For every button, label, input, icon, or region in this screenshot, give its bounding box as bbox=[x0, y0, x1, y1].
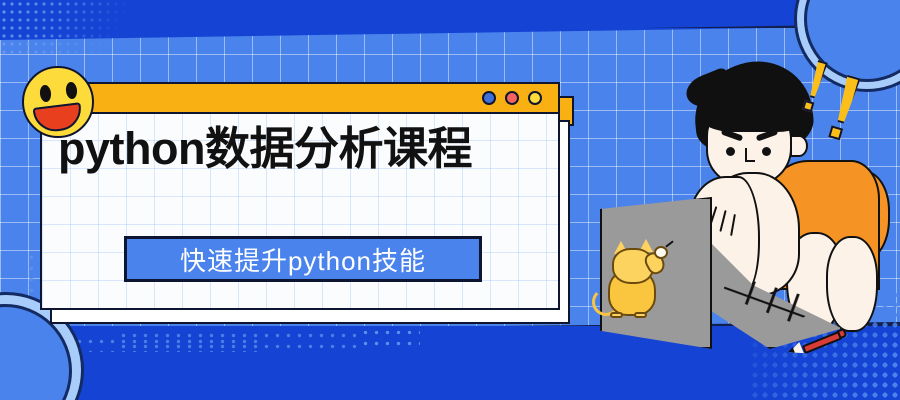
cat-foot-right bbox=[634, 312, 647, 318]
smiley-mouth bbox=[33, 102, 84, 134]
card-bottom-edge-tab bbox=[50, 310, 570, 324]
person-eye-left bbox=[726, 147, 735, 156]
card-title-bar bbox=[42, 84, 558, 114]
person-leg-right bbox=[826, 236, 878, 332]
subtitle-button[interactable]: 快速提升python技能 bbox=[124, 236, 482, 282]
window-dot-yellow[interactable] bbox=[528, 91, 542, 105]
window-dot-blue[interactable] bbox=[482, 91, 496, 105]
smiley-eye-right bbox=[65, 81, 78, 99]
smiley-eye-left bbox=[39, 84, 52, 102]
person-eye-right bbox=[762, 147, 771, 156]
person-ear bbox=[790, 135, 808, 157]
course-banner: python数据分析课程 快速提升python技能 bbox=[0, 0, 900, 400]
halftone-dot-pattern-top-left bbox=[0, 0, 130, 56]
content-card: python数据分析课程 快速提升python技能 bbox=[40, 82, 560, 310]
cat-foot-left bbox=[610, 312, 623, 318]
person-nose bbox=[745, 148, 755, 162]
smiley-face-icon bbox=[22, 66, 94, 138]
window-dot-red[interactable] bbox=[505, 91, 519, 105]
page-title: python数据分析课程 bbox=[58, 126, 552, 171]
